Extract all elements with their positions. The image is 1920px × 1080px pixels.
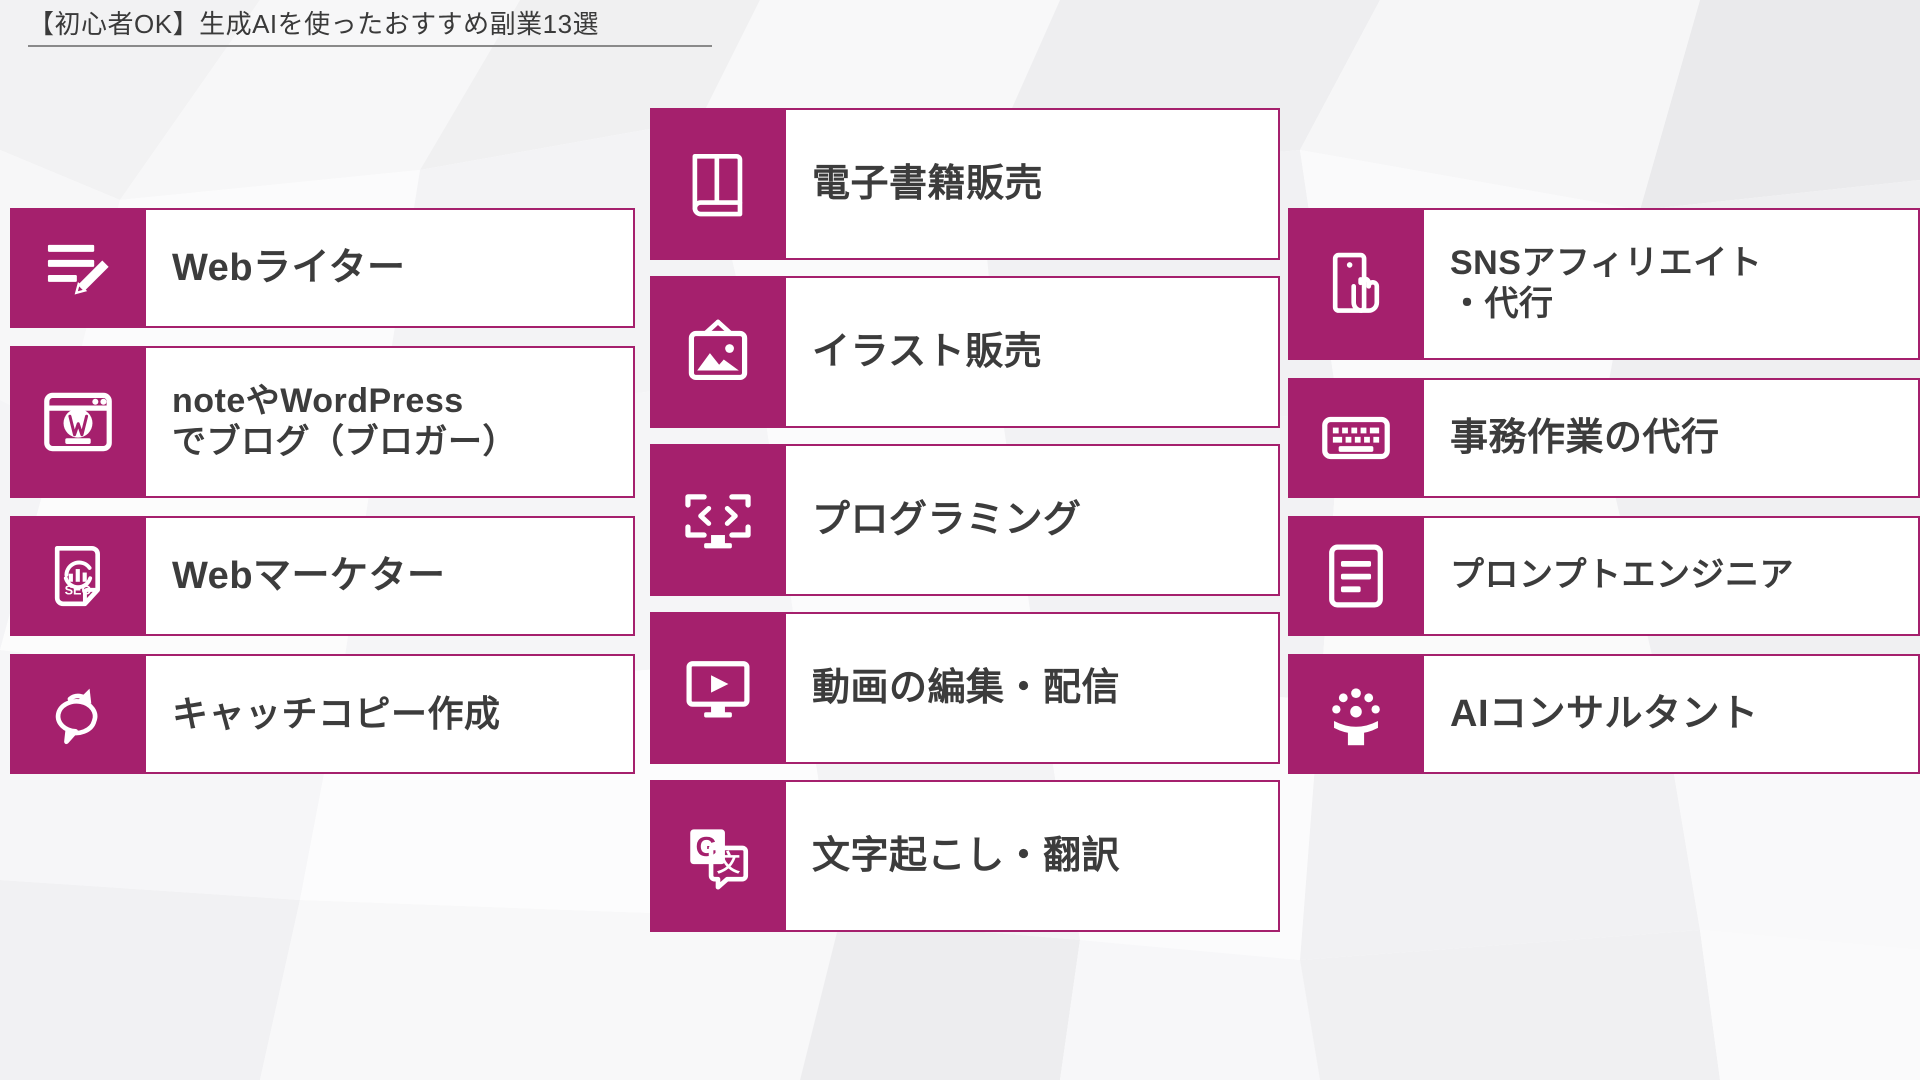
card-body: Webマーケター	[146, 518, 633, 634]
spacer	[650, 764, 1280, 780]
card-body: SNSアフィリエイト ・代行	[1424, 210, 1918, 358]
spacer	[650, 260, 1280, 276]
card-office-work[interactable]: 事務作業の代行	[1288, 378, 1920, 498]
card-sns-affiliate[interactable]: SNSアフィリエイト ・代行	[1288, 208, 1920, 360]
text-lines-pencil-icon	[10, 208, 146, 328]
card-label: 電子書籍販売	[812, 161, 1043, 207]
picture-frame-icon	[650, 276, 786, 428]
card-catchcopy[interactable]: キャッチコピー作成	[10, 654, 635, 774]
card-label: 動画の編集・配信	[812, 665, 1120, 711]
cards-board: Webライター noteやWordPress でブログ（ブロガー）	[0, 0, 1920, 1080]
card-label: プロンプトエンジニア	[1450, 555, 1794, 596]
card-ebook[interactable]: 電子書籍販売	[650, 108, 1280, 260]
spacer	[1288, 636, 1920, 654]
card-prompt-engineer[interactable]: プロンプトエンジニア	[1288, 516, 1920, 636]
card-label: Webライター	[172, 245, 406, 291]
phone-tap-icon	[1288, 208, 1424, 360]
seo-chart-icon: SEO	[10, 516, 146, 636]
card-transcription-translation[interactable]: G 文 文字起こし・翻訳	[650, 780, 1280, 932]
speech-bubble-refresh-icon	[10, 654, 146, 774]
book-icon	[650, 108, 786, 260]
spacer	[10, 636, 635, 654]
card-body: 動画の編集・配信	[786, 614, 1278, 762]
card-body: プログラミング	[786, 446, 1278, 594]
card-label: SNSアフィリエイト ・代行	[1450, 243, 1762, 326]
spacer	[1288, 360, 1920, 378]
translate-icon: G 文	[650, 780, 786, 932]
card-video[interactable]: 動画の編集・配信	[650, 612, 1280, 764]
keyboard-icon	[1288, 378, 1424, 498]
video-play-monitor-icon	[650, 612, 786, 764]
card-body: プロンプトエンジニア	[1424, 518, 1918, 634]
card-web-writer[interactable]: Webライター	[10, 208, 635, 328]
person-ideas-icon	[1288, 654, 1424, 774]
code-monitor-icon	[650, 444, 786, 596]
card-label: noteやWordPress でブログ（ブロガー）	[172, 381, 517, 464]
spacer	[1288, 498, 1920, 516]
card-label: イラスト販売	[812, 329, 1042, 375]
document-lines-icon	[1288, 516, 1424, 636]
title-underline	[28, 45, 712, 47]
card-body: noteやWordPress でブログ（ブロガー）	[146, 348, 633, 496]
card-body: AIコンサルタント	[1424, 656, 1918, 772]
card-label: Webマーケター	[172, 553, 446, 599]
spacer	[650, 596, 1280, 612]
spacer	[650, 428, 1280, 444]
spacer	[10, 498, 635, 516]
svg-text:SEO: SEO	[65, 583, 92, 598]
card-label: AIコンサルタント	[1450, 691, 1759, 737]
card-body: キャッチコピー作成	[146, 656, 633, 772]
card-body: 事務作業の代行	[1424, 380, 1918, 496]
svg-text:文: 文	[717, 850, 741, 877]
card-label: 文字起こし・翻訳	[812, 833, 1120, 879]
card-ai-consultant[interactable]: AIコンサルタント	[1288, 654, 1920, 774]
card-programming[interactable]: プログラミング	[650, 444, 1280, 596]
page-title-bar: 【初心者OK】生成AIを使ったおすすめ副業13選	[28, 8, 712, 47]
card-blog[interactable]: noteやWordPress でブログ（ブロガー）	[10, 346, 635, 498]
card-label: キャッチコピー作成	[172, 692, 501, 736]
card-web-marketer[interactable]: SEO Webマーケター	[10, 516, 635, 636]
card-label: プログラミング	[812, 497, 1082, 543]
middle-column: 電子書籍販売 イラスト販売	[650, 108, 1280, 932]
card-body: Webライター	[146, 210, 633, 326]
card-body: 文字起こし・翻訳	[786, 782, 1278, 930]
right-column: SNSアフィリエイト ・代行	[1288, 208, 1920, 774]
card-body: 電子書籍販売	[786, 110, 1278, 258]
card-illustration[interactable]: イラスト販売	[650, 276, 1280, 428]
page-title: 【初心者OK】生成AIを使ったおすすめ副業13選	[28, 8, 712, 42]
wordpress-browser-icon	[10, 346, 146, 498]
card-body: イラスト販売	[786, 278, 1278, 426]
spacer	[10, 328, 635, 346]
left-column: Webライター noteやWordPress でブログ（ブロガー）	[10, 208, 635, 774]
card-label: 事務作業の代行	[1450, 415, 1720, 461]
